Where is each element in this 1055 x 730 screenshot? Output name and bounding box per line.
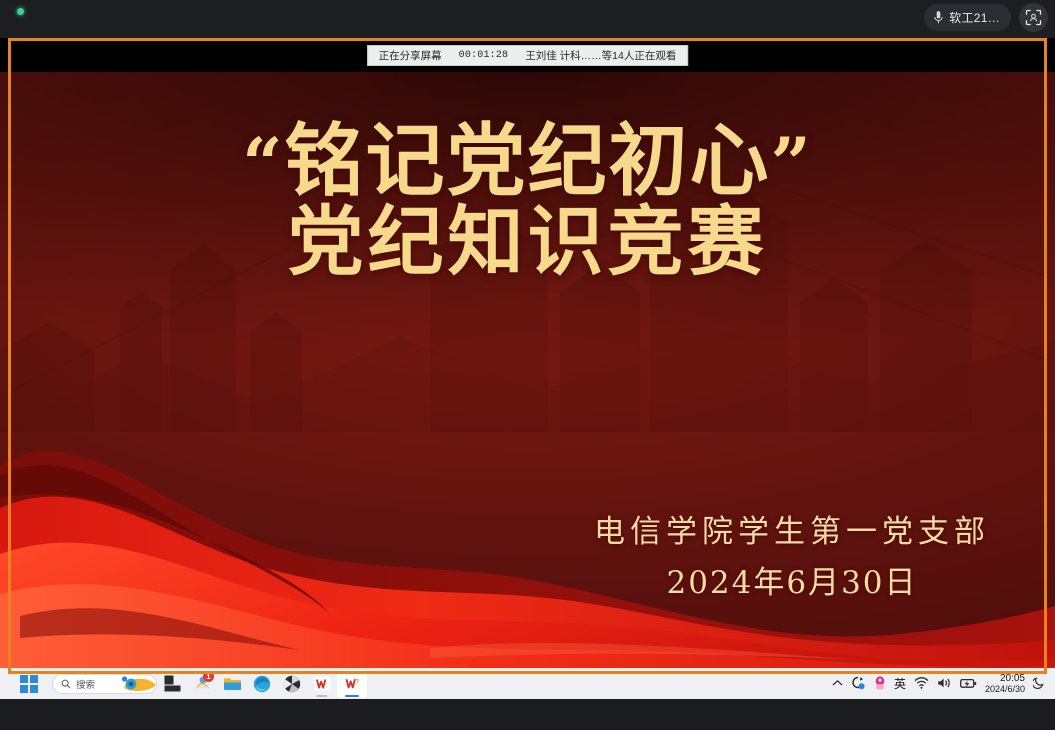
wps-presentation-icon: ? — [344, 676, 361, 692]
fullscreen-button[interactable] — [1019, 3, 1048, 32]
tray-battery-icon[interactable] — [960, 678, 977, 689]
slide-date: 2024年6月30日 — [577, 557, 1007, 602]
taskbar-app-terminal[interactable] — [157, 670, 187, 698]
system-tray: 英 — [832, 673, 1055, 694]
quote-open: “ — [242, 122, 284, 205]
taskbar-app-edge[interactable] — [247, 670, 277, 698]
taskbar-app-mail[interactable]: 1 — [187, 670, 217, 698]
slide-organization: 电信学院学生第一党支部 — [577, 506, 1007, 551]
quote-close: ” — [771, 122, 813, 205]
presentation-slide: “铭记党纪初心” 党纪知识竞赛 电信学院学生第一党支部 2024年6月30日 — [0, 72, 1055, 668]
slide-footer-block: 电信学院学生第一党支部 2024年6月30日 — [577, 506, 1007, 602]
tray-sync-cloud-icon[interactable] — [851, 676, 866, 690]
share-timer: 00:01:28 — [459, 50, 509, 61]
screen-root: 软工21… 正在分享屏幕 00:01:28 王刘佳 计科……等14人正在观看 — [0, 0, 1055, 730]
windows-logo-icon — [20, 675, 38, 693]
share-status-bar[interactable]: 正在分享屏幕 00:01:28 王刘佳 计科……等14人正在观看 — [367, 45, 689, 66]
taskbar-app-file-explorer[interactable] — [217, 670, 247, 698]
edge-icon — [253, 675, 271, 693]
microphone-icon — [933, 10, 944, 25]
tray-app-icon[interactable] — [874, 676, 886, 690]
folder-icon — [223, 676, 242, 692]
svg-text:?: ? — [355, 677, 359, 685]
tray-do-not-disturb-icon[interactable] — [1033, 676, 1045, 690]
search-placeholder: 搜索 — [76, 677, 95, 691]
mail-unread-badge: 1 — [203, 671, 214, 682]
tray-ime-indicator[interactable]: 英 — [894, 675, 906, 692]
slide-title-primary: “铭记党纪初心” — [0, 118, 1055, 203]
fullscreen-scan-icon — [1025, 9, 1042, 26]
share-status-label: 正在分享屏幕 — [379, 48, 442, 63]
meeting-app-icon — [283, 675, 301, 693]
start-button[interactable] — [14, 670, 44, 698]
slide-title-block: “铭记党纪初心” 党纪知识竞赛 — [0, 118, 1055, 284]
windows-taskbar: 搜索 — [0, 668, 1055, 699]
taskbar-app-area: 搜索 — [0, 670, 367, 698]
clock-time: 20:05 — [985, 673, 1025, 684]
tray-wifi-icon[interactable] — [914, 677, 929, 689]
taskbar-clock[interactable]: 20:05 2024/6/30 — [985, 673, 1025, 694]
recording-dot-icon — [17, 8, 24, 15]
clock-date: 2024/6/30 — [985, 684, 1025, 694]
app-running-indicator — [317, 695, 328, 697]
share-viewers-label: 王刘佳 计科……等14人正在观看 — [525, 48, 676, 63]
terminal-icon — [164, 675, 181, 692]
taskbar-app-wps-writer[interactable] — [307, 670, 337, 698]
mic-pill-label: 软工21… — [949, 9, 1000, 26]
app-active-indicator — [345, 695, 359, 697]
search-input[interactable]: 搜索 — [52, 674, 157, 694]
wps-writer-icon — [314, 676, 331, 692]
taskbar-app-wps-presentation[interactable]: ? — [337, 670, 367, 698]
copilot-icon[interactable] — [116, 672, 158, 698]
slide-title-text: 铭记党纪初心 — [285, 114, 771, 207]
mic-status-pill[interactable]: 软工21… — [924, 4, 1011, 31]
desktop-bottom-band — [0, 699, 1055, 730]
taskbar-app-meeting[interactable] — [277, 670, 307, 698]
search-icon — [61, 679, 71, 689]
slide-subtitle: 党纪知识竞赛 — [0, 199, 1055, 284]
meeting-top-bar: 软工21… — [0, 0, 1055, 38]
tray-volume-icon[interactable] — [937, 677, 952, 689]
tray-overflow-chevron-icon[interactable] — [832, 679, 843, 687]
